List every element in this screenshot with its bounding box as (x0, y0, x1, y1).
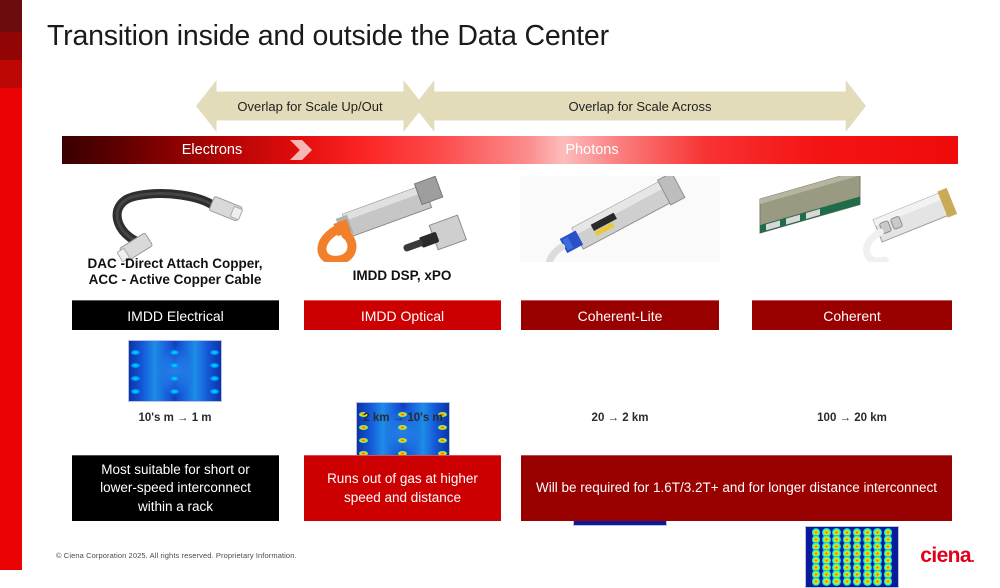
ciena-logo-text: ciena (920, 544, 971, 567)
banner-coherent-lite: Coherent-Lite (521, 300, 719, 330)
overlap-arrow-scale-across: Overlap for Scale Across (414, 80, 866, 132)
overlap-arrow-row: Overlap for Scale Up/Out Overlap for Sca… (0, 80, 1000, 132)
overlap-arrow-right-label: Overlap for Scale Across (568, 99, 711, 114)
note-box-imdd-optical: Runs out of gas at higher speed and dist… (304, 455, 501, 521)
ciena-logo: ciena. (920, 545, 974, 566)
coherent-lite-module-photo (520, 176, 720, 262)
accent-stripe-segment-4 (0, 88, 22, 570)
constellation-point (812, 577, 820, 585)
eye-diagram-level-marker (210, 363, 219, 368)
eye-diagram-level-marker (131, 376, 140, 381)
banner-imdd-optical-label: IMDD Optical (361, 308, 444, 324)
eye-diagram-level-marker (170, 389, 179, 394)
copper-cable-photo (62, 176, 288, 262)
note-box-coherent: Will be required for 1.6T/3.2T+ and for … (521, 455, 952, 521)
banner-coherent-label: Coherent (823, 308, 881, 324)
page-title: Transition inside and outside the Data C… (47, 20, 609, 53)
banner-imdd-electrical-label: IMDD Electrical (127, 308, 223, 324)
constellation-point (822, 577, 830, 585)
banner-coherent: Coherent (752, 300, 952, 330)
banner-imdd-optical: IMDD Optical (304, 300, 501, 330)
constellation-point (863, 577, 871, 585)
ciena-logo-dot: . (971, 550, 974, 565)
constellation-point (873, 577, 881, 585)
banner-imdd-electrical: IMDD Electrical (72, 300, 279, 330)
distance-label-2: 2 km → 10's m (303, 412, 503, 424)
chevron-right-icon (290, 140, 312, 160)
eye-diagram-level-marker (170, 376, 179, 381)
distance-label-1: 10's m → 1 m (75, 412, 275, 424)
64qam-constellation (805, 526, 899, 588)
column-2-caption: IMDD DSP, xPO (303, 268, 501, 284)
eye-diagram-level-marker (210, 350, 219, 355)
qsfp-transceiver-photo (303, 176, 501, 262)
eye-diagram-level-marker (359, 425, 368, 430)
note-box-imdd-electrical: Most suitable for short or lower-speed i… (72, 455, 279, 521)
eye-diagram-level-marker (398, 438, 407, 443)
eye-diagram-level-marker (359, 438, 368, 443)
overlap-arrow-left-label: Overlap for Scale Up/Out (237, 99, 382, 114)
overlap-arrow-scale-up-out: Overlap for Scale Up/Out (196, 80, 424, 132)
eye-diagram-level-marker (210, 376, 219, 381)
eye-diagram-level-marker (131, 363, 140, 368)
constellation-point (843, 577, 851, 585)
constellation-point (832, 577, 840, 585)
eye-diagram-level-marker (210, 389, 219, 394)
eye-diagram-level-marker (438, 438, 447, 443)
eye-diagram-level-marker (398, 425, 407, 430)
caption-line-1: DAC -Direct Attach Copper, (56, 256, 294, 272)
eye-diagram-level-marker (131, 350, 140, 355)
column-1-caption: DAC -Direct Attach Copper, ACC - Active … (56, 256, 294, 289)
eye-diagram-level-marker (438, 425, 447, 430)
caption-line-2: ACC - Active Copper Cable (56, 272, 294, 288)
accent-stripe-segment-1 (0, 0, 22, 32)
constellation-point (853, 577, 861, 585)
spectrum-label-photons: Photons (532, 136, 652, 164)
eye-diagram-level-marker (170, 350, 179, 355)
electrons-photons-spectrum-bar: Electrons Photons (62, 136, 958, 164)
accent-stripe-segment-2 (0, 32, 22, 60)
eye-diagram-level-marker (170, 363, 179, 368)
constellation-point (884, 577, 892, 585)
footer-copyright: © Ciena Corporation 2025. All rights res… (56, 551, 297, 560)
spectrum-label-electrons: Electrons (152, 136, 272, 164)
banner-coherent-lite-label: Coherent-Lite (578, 308, 663, 324)
distance-label-3: 20 → 2 km (520, 412, 720, 424)
eye-diagram-level-marker (131, 389, 140, 394)
pam4-eye-diagram-1 (128, 340, 222, 402)
coherent-board-and-module-photo (750, 176, 958, 262)
distance-label-4: 100 → 20 km (752, 412, 952, 424)
